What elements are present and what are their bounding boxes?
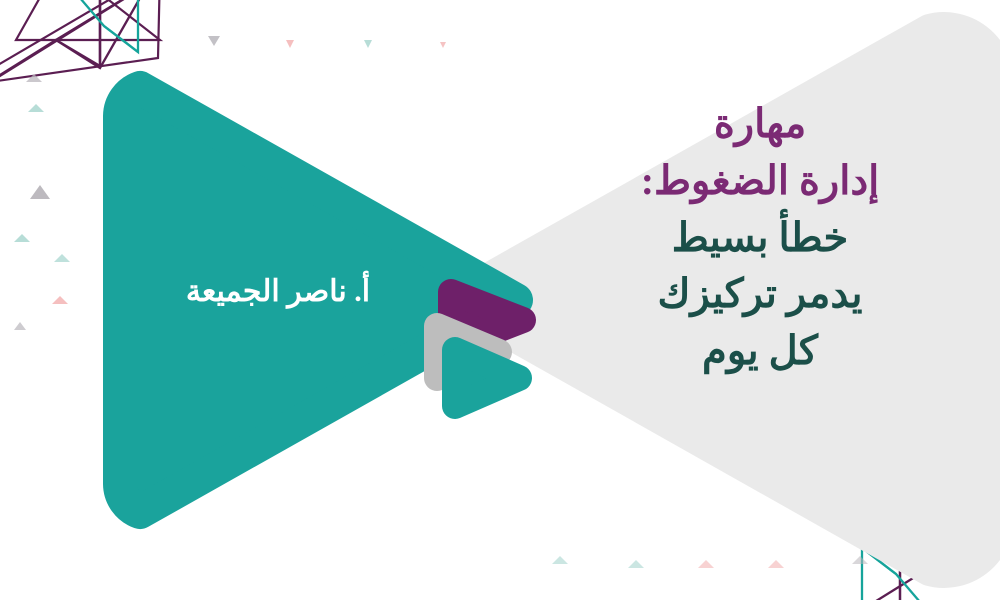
heading-line-2: إدارة الضغوط:	[580, 153, 940, 210]
heading-line-1: مهارة	[580, 96, 940, 153]
heading-line-4: يدمر تركيزك	[580, 266, 940, 323]
slide-canvas: مهارة إدارة الضغوط: خطأ بسيط يدمر تركيزك…	[0, 0, 1000, 600]
heading-block: مهارة إدارة الضغوط: خطأ بسيط يدمر تركيزك…	[580, 96, 940, 380]
heading-line-3: خطأ بسيط	[580, 210, 940, 267]
presenter-name: أ. ناصر الجميعة	[118, 274, 438, 309]
heading-line-5: كل يوم	[580, 323, 940, 380]
